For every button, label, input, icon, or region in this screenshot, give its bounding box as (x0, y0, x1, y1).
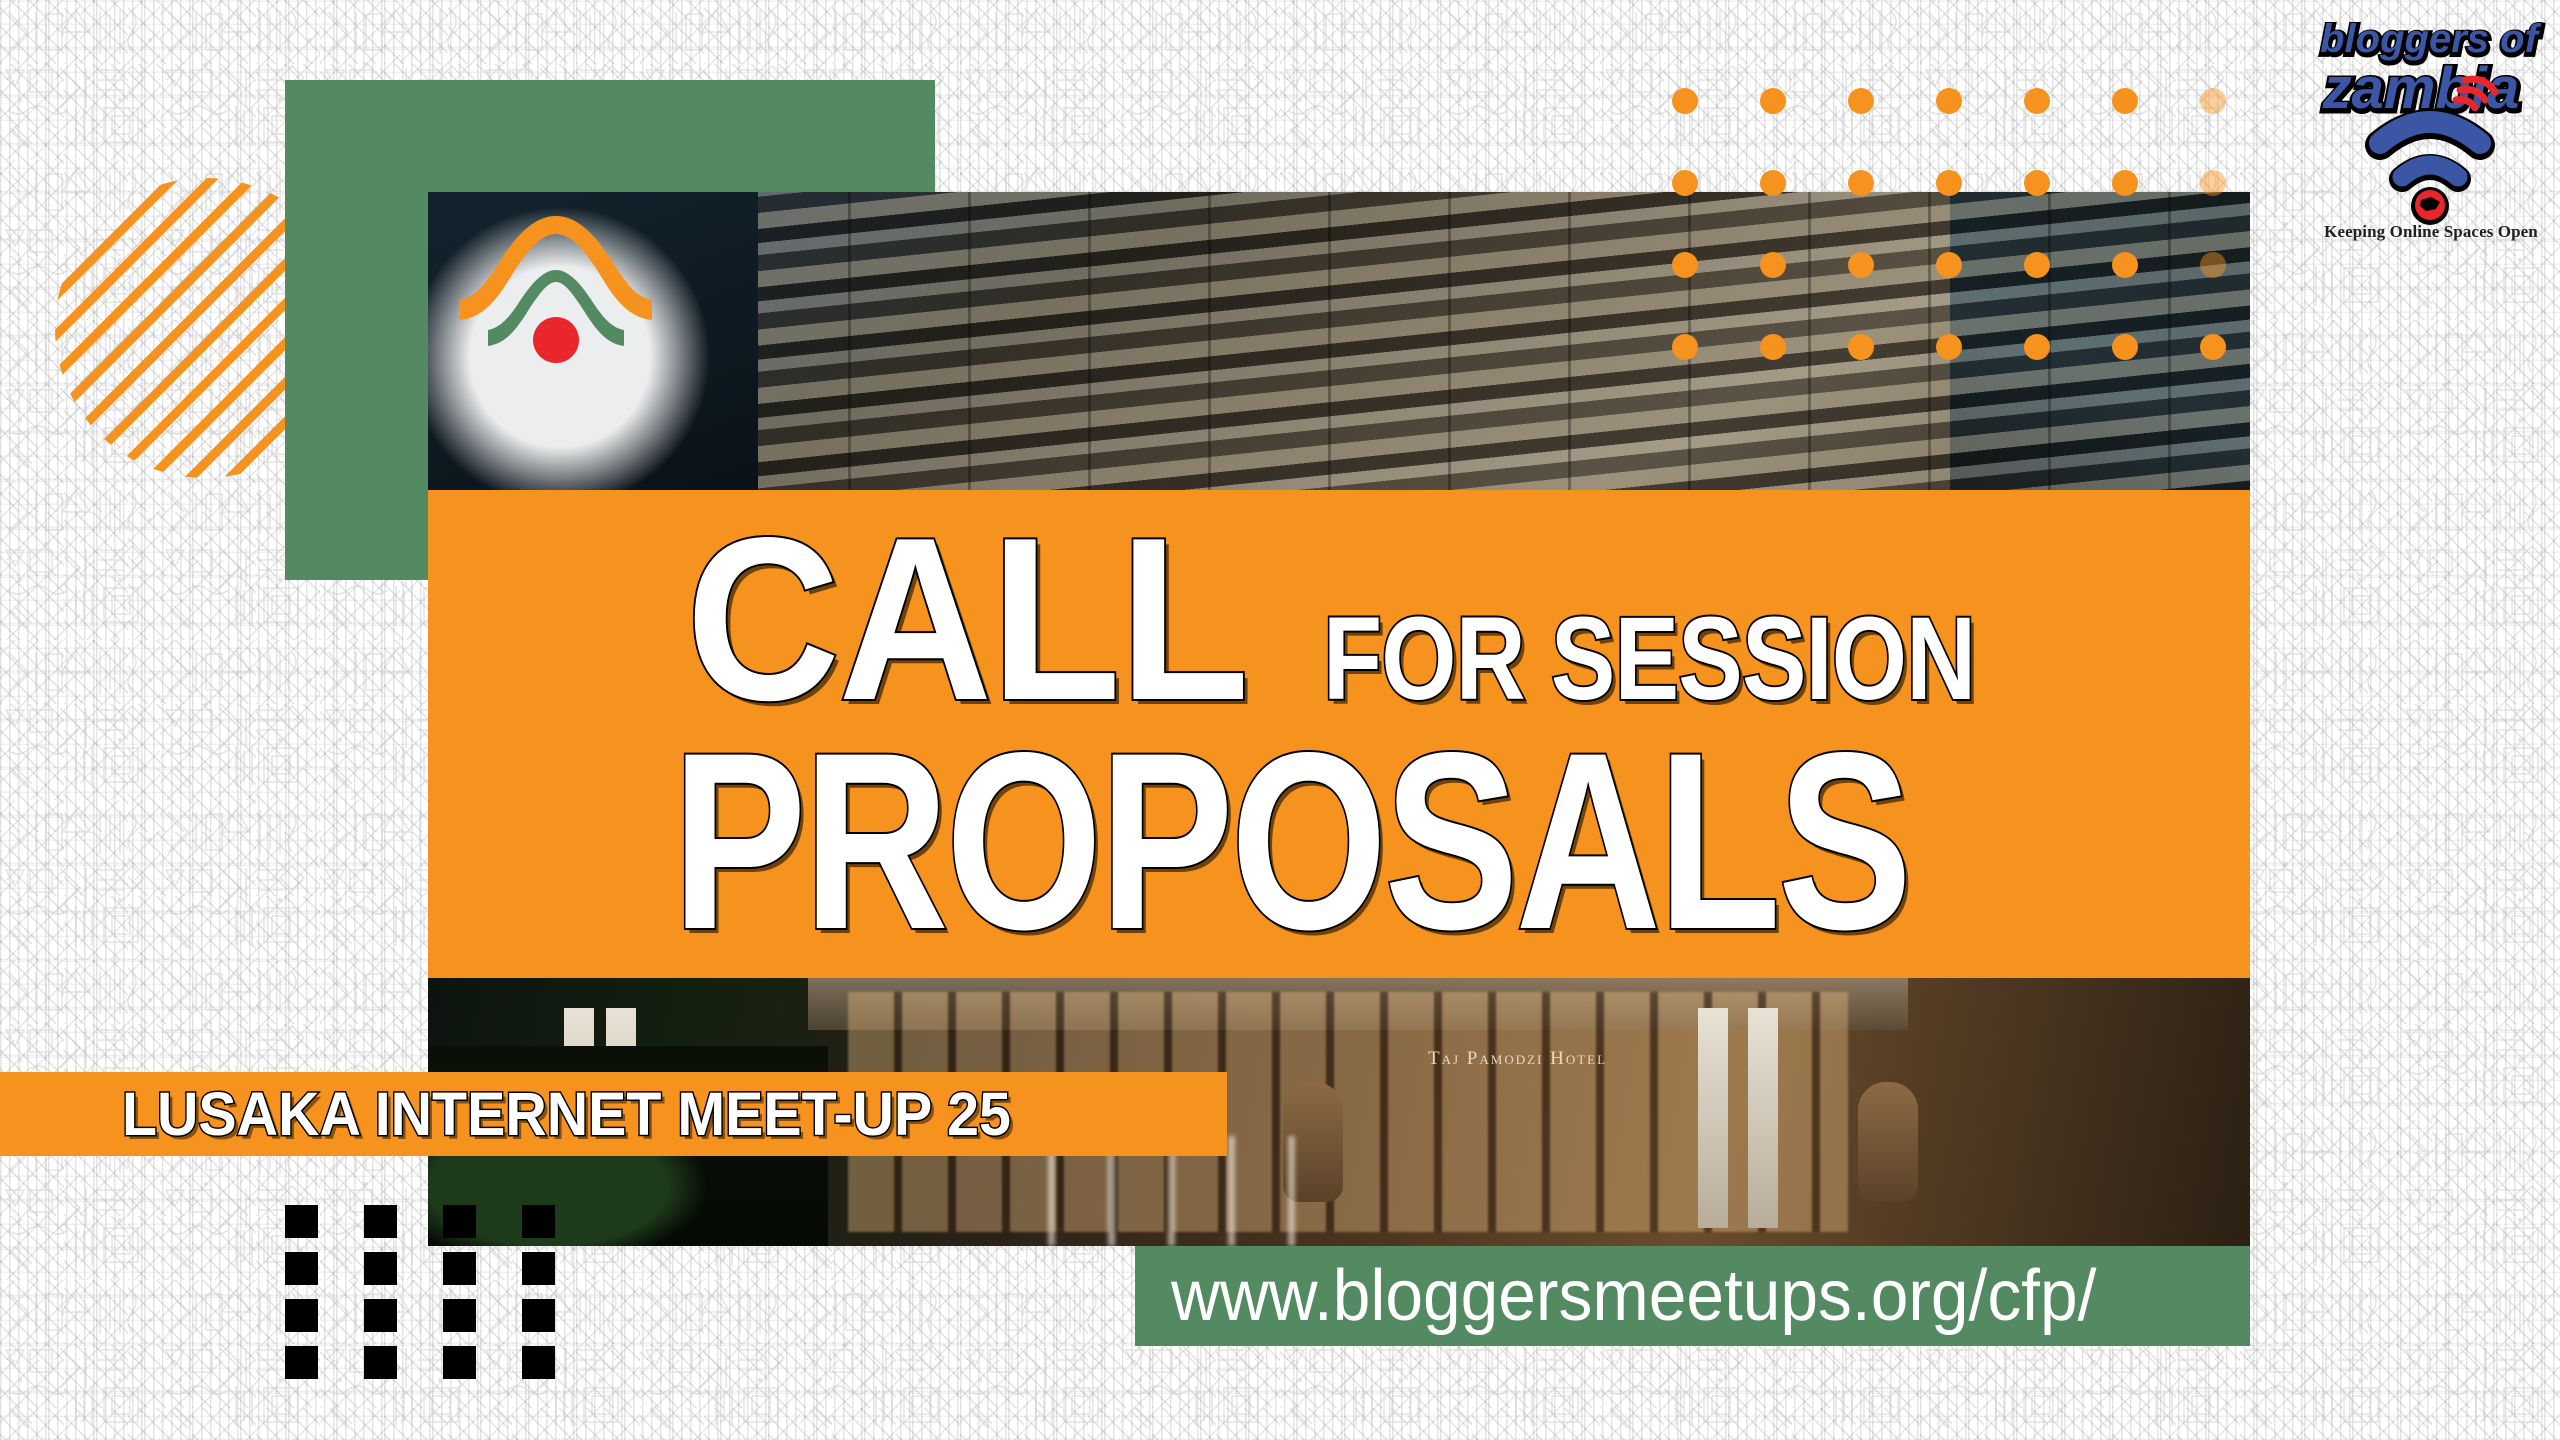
url-banner[interactable]: www.bloggersmeetups.org/cfp/ (1135, 1246, 2250, 1346)
zambia-map-pin-icon (2411, 187, 2449, 225)
headline-banner: CALL FOR SESSION PROPOSALS (428, 490, 2250, 978)
entrance-column (1698, 1008, 1728, 1228)
red-dot-icon (533, 317, 579, 363)
event-name-text: LUSAKA INTERNET MEET-UP 25 (122, 1084, 1011, 1145)
brand-tagline: Keeping Online Spaces Open (2306, 222, 2556, 242)
black-square-grid (285, 1205, 601, 1393)
decorative-urn (1858, 1082, 1918, 1202)
svg-text:bloggers of: bloggers of (2320, 17, 2541, 61)
headline-line-2: PROPOSALS (672, 716, 2218, 968)
headline-proposals-word: PROPOSALS (672, 716, 1909, 968)
venue-signage: Taj Pamodzi Hotel (1428, 1048, 1607, 1070)
orange-arc-icon (460, 216, 652, 320)
taj-pamodzi-wave-logo (452, 200, 660, 388)
entrance-column (1748, 1008, 1778, 1228)
url-text[interactable]: www.bloggersmeetups.org/cfp/ (1171, 1260, 2096, 1332)
bloggers-of-zambia-logo: bloggers of bloggers of zambia zambia (2310, 8, 2550, 258)
event-name-banner: LUSAKA INTERNET MEET-UP 25 (0, 1072, 1227, 1156)
wifi-icon (2380, 122, 2480, 179)
orange-dot-grid (1672, 88, 2288, 416)
